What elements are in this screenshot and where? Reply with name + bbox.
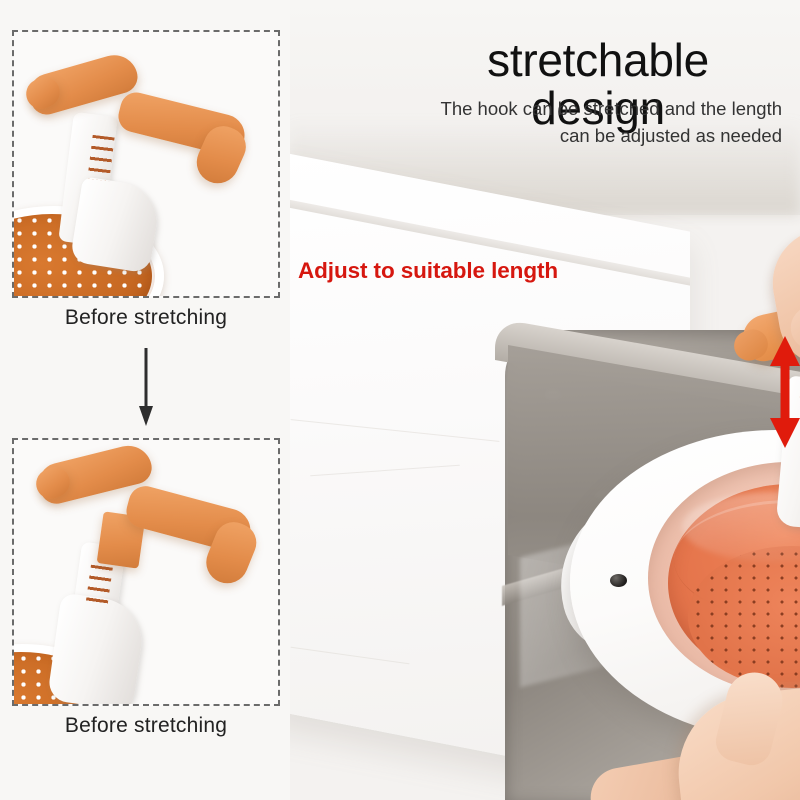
frame-screw-icon [610, 574, 627, 587]
page-subtitle: The hook can be stretched and the length… [430, 96, 782, 150]
caption-after: Before stretching [12, 714, 280, 738]
adjust-length-label: Adjust to suitable length [298, 258, 548, 284]
stretch-direction-arrow-icon [768, 336, 800, 448]
inset-hook-stem-lower [47, 593, 147, 706]
inset-panel-after [12, 438, 280, 706]
subtitle-line-1: The hook can be stretched and the length [441, 98, 782, 119]
flow-down-arrow-icon [136, 348, 156, 426]
caption-before: Before stretching [12, 306, 280, 330]
inset-hook-stem-lower [70, 176, 162, 273]
subtitle-line-2: can be adjusted as needed [560, 125, 782, 146]
product-infographic: stretchable design The hook can be stret… [0, 0, 800, 800]
inset-panel-before [12, 30, 280, 298]
